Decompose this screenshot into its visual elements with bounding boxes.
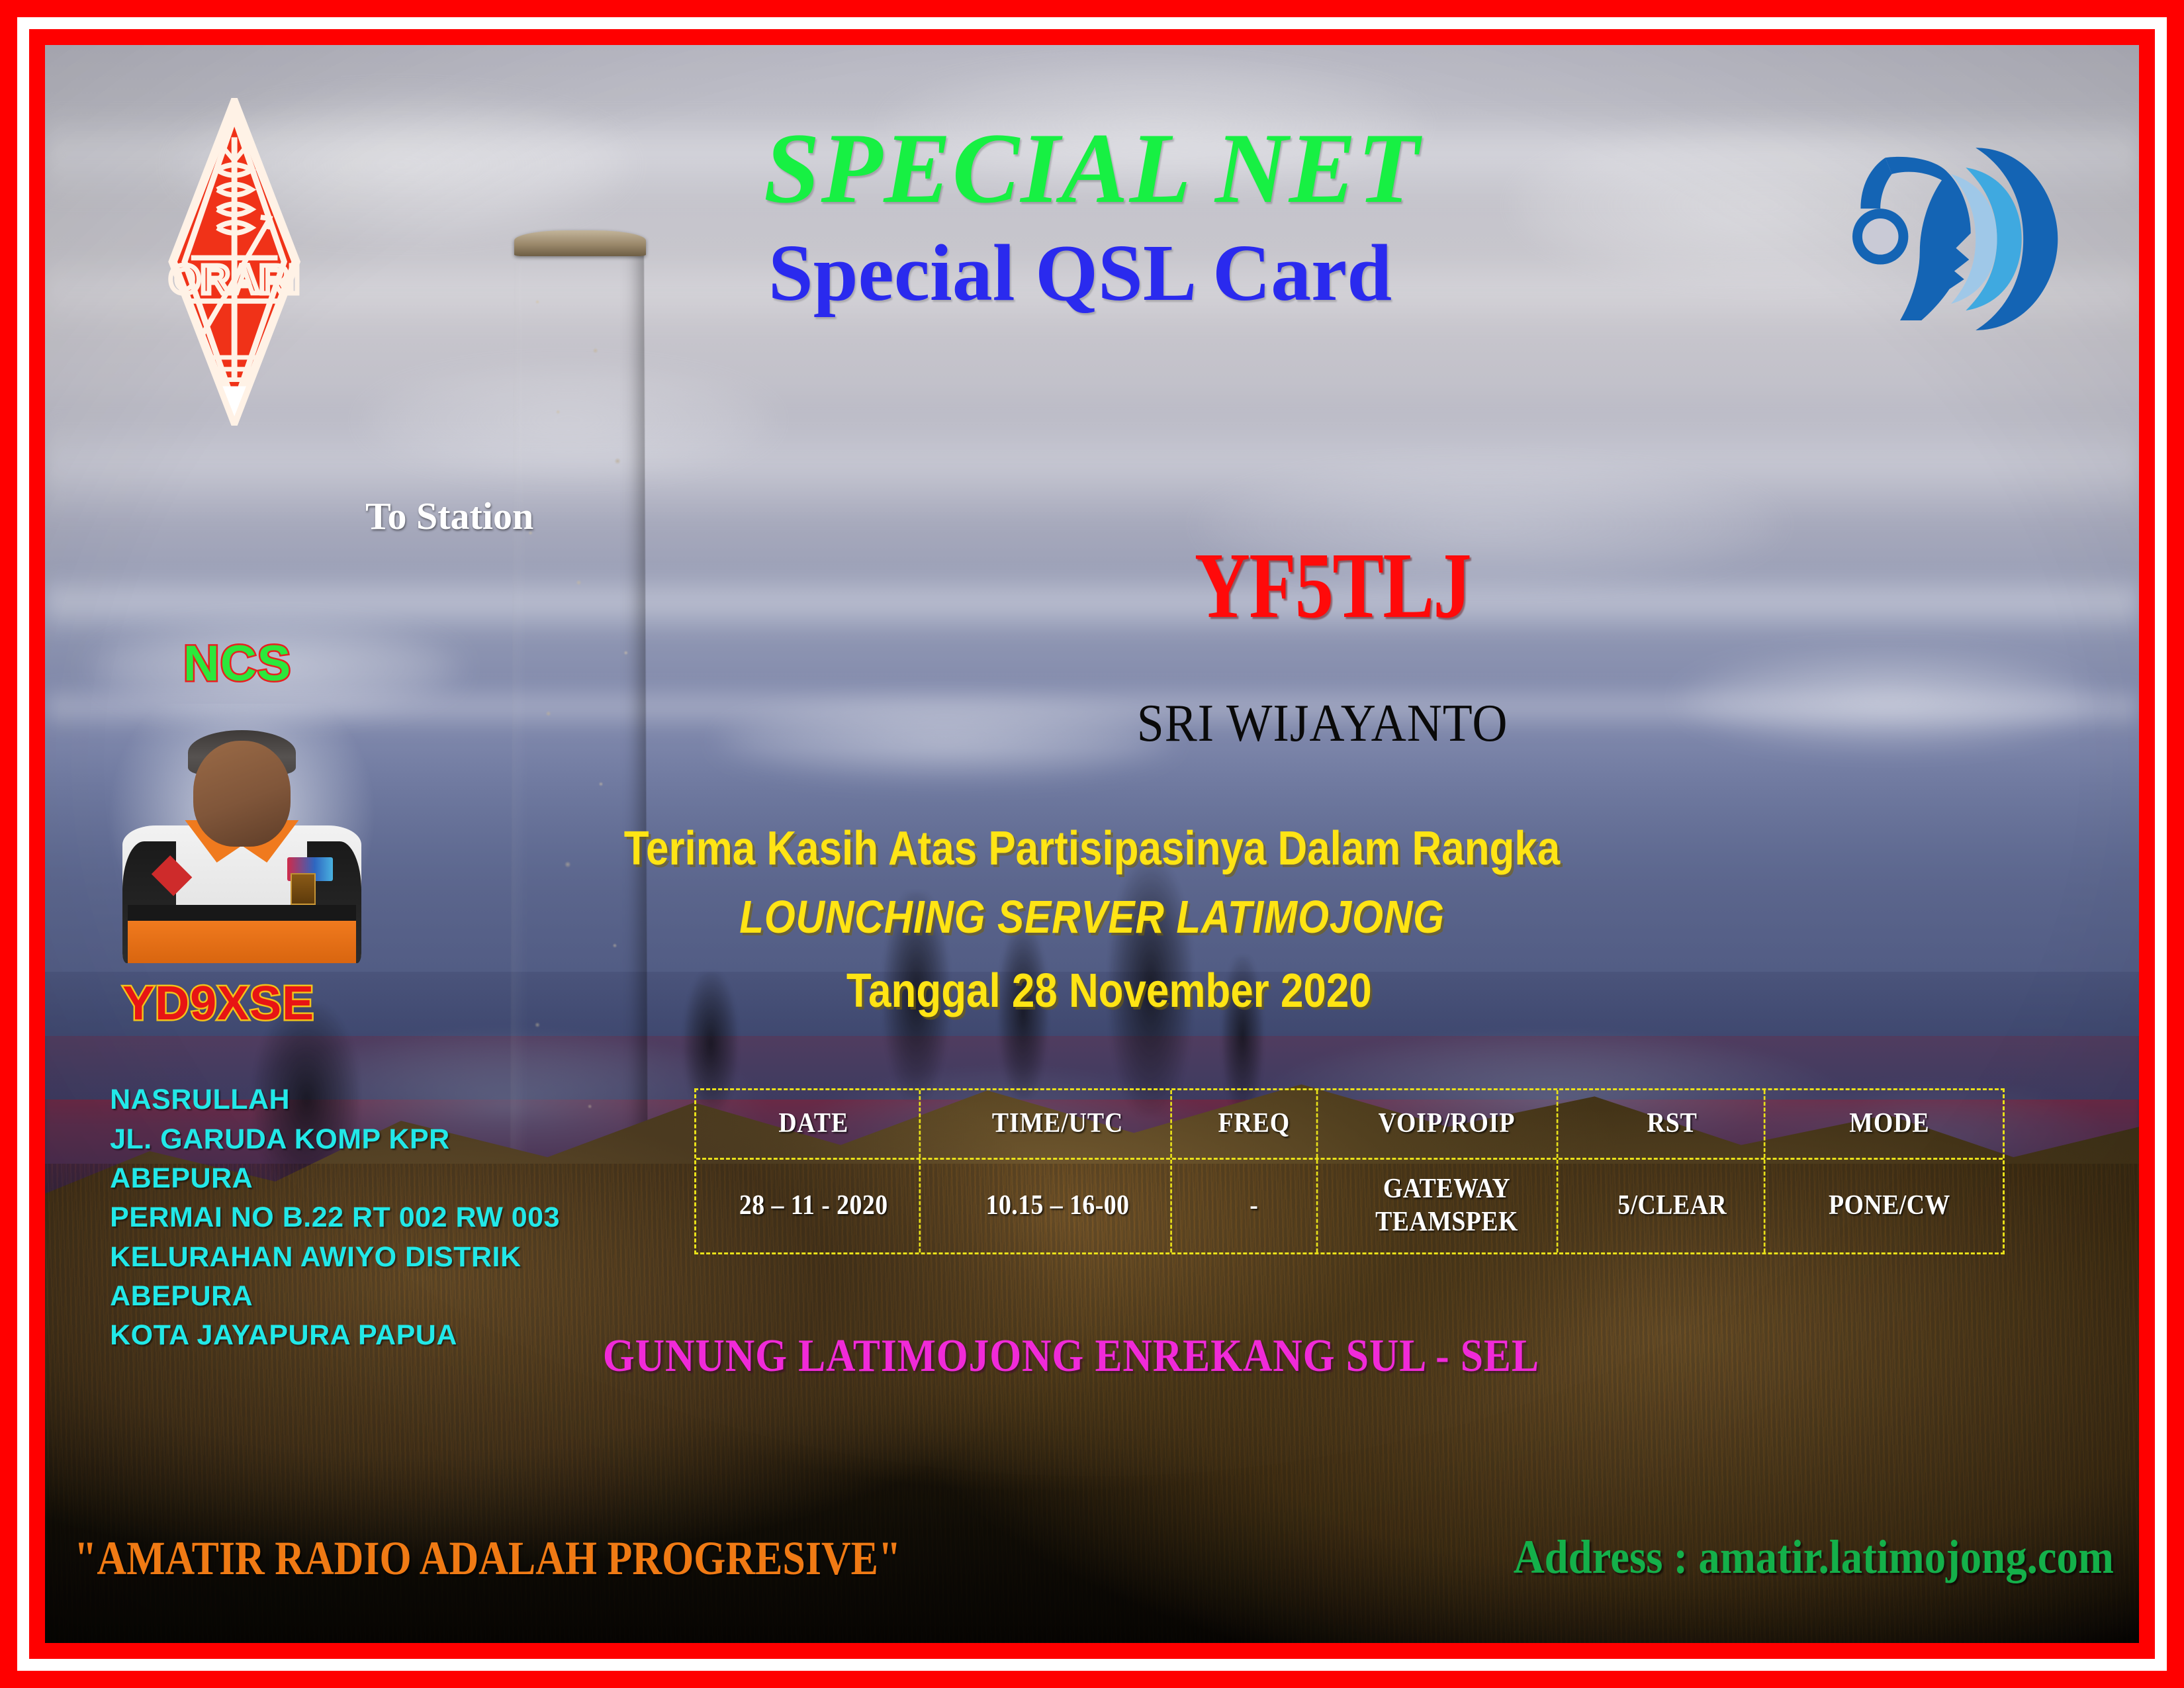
address-line: JL. GARUDA KOMP KPR [110,1120,560,1159]
table-header-row: DATE TIME/UTC FREQ VOIP/ROIP RST MODE [696,1090,2003,1159]
address-line: ABEPURA [110,1159,560,1198]
cell-voip-line1: GATEWAY [1375,1173,1518,1206]
page-title: SPECIAL NET [45,111,2139,226]
avatar-face [193,741,290,847]
location-label: GUNUNG LATIMOJONG ENREKANG SUL - SEL [150,1330,1992,1383]
ncs-callsign: YD9XSE [122,976,314,1031]
cell-freq: - [1191,1160,1318,1253]
station-address: NASRULLAH JL. GARUDA KOMP KPR ABEPURA PE… [110,1080,560,1355]
column-header-time: TIME/UTC [945,1090,1172,1157]
cell-date: 28 – 11 - 2020 [708,1160,921,1253]
footer-quote: "AMATIR RADIO ADALAH PROGRESIVE" [74,1531,901,1586]
address-line: KELURAHAN AWIYO DISTRIK [110,1238,560,1277]
avatar-id-badge [291,873,316,905]
cell-time: 10.15 – 16-00 [945,1160,1172,1253]
address-line: NASRULLAH [110,1080,560,1119]
qsl-card-photo-area: ORARI [45,45,2139,1643]
column-header-mode: MODE [1787,1090,1991,1157]
address-line: PERMAI NO B.22 RT 002 RW 003 [110,1198,560,1237]
avatar [99,704,384,969]
address-line: ABEPURA [110,1277,560,1316]
qsl-card-outer-border: ORARI [0,0,2184,1688]
station-callsign: YF5TLJ [972,531,1694,639]
avatar-sash [128,921,355,963]
page-subtitle: Special QSL Card [45,227,2127,320]
cell-voip-line2: TEAMSPEK [1375,1206,1518,1239]
thanks-line-2: LOUNCHING SERVER LATIMOJONG [191,890,1992,943]
thanks-line-1: Terima Kasih Atas Partisipasinya Dalam R… [191,821,1992,876]
to-station-label: To Station [365,494,533,538]
column-header-freq: FREQ [1191,1090,1318,1157]
column-header-voip-roip: VOIP/ROIP [1338,1090,1559,1157]
ncs-label: NCS [183,635,291,692]
footer-web-address: Address : amatir.latimojong.com [1514,1530,2114,1585]
column-header-date: DATE [708,1090,921,1157]
thanks-line-3: Tanggal 28 November 2020 [208,964,2009,1018]
cell-rst: 5/CLEAR [1580,1160,1765,1253]
column-header-rst: RST [1580,1090,1765,1157]
cell-mode: PONE/CW [1787,1160,1991,1253]
table-row: 28 – 11 - 2020 10.15 – 16-00 - GATEWAY T… [696,1160,2003,1253]
operator-name: SRI WIJAYANTO [899,694,1747,754]
qso-log-table: DATE TIME/UTC FREQ VOIP/ROIP RST MODE 28… [694,1088,2005,1254]
card-content-overlay: ORARI [45,45,2139,1643]
avatar-belt [128,905,355,921]
cell-voip-roip: GATEWAY TEAMSPEK [1338,1160,1559,1253]
